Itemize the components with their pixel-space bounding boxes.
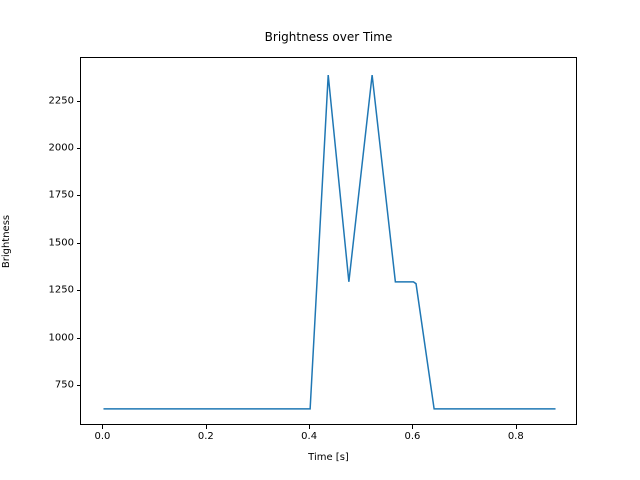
- y-tick-label: 750: [55, 380, 74, 391]
- brightness-line: [103, 75, 555, 409]
- x-tick-mark: [412, 425, 413, 429]
- x-axis-label: Time [s]: [80, 452, 577, 463]
- page-title: Brightness over Time: [80, 30, 577, 44]
- x-tick-label: 0.8: [508, 431, 524, 442]
- y-tick-label: 2250: [49, 95, 74, 106]
- y-tick-label: 1500: [49, 237, 74, 248]
- x-tick-mark: [206, 425, 207, 429]
- y-axis-label-text: Brightness: [2, 214, 13, 267]
- figure-canvas: Brightness over Time Brightness Time [s]…: [0, 0, 640, 480]
- plot-area: [81, 58, 576, 424]
- x-tick-label: 0.4: [301, 431, 317, 442]
- x-tick-mark: [102, 425, 103, 429]
- y-tick-label: 2000: [49, 143, 74, 154]
- x-tick-mark: [516, 425, 517, 429]
- x-tick-mark: [309, 425, 310, 429]
- y-tick-label: 1750: [49, 190, 74, 201]
- y-tick-label: 1000: [49, 332, 74, 343]
- x-tick-label: 0.2: [198, 431, 214, 442]
- axes-frame: [80, 57, 577, 425]
- y-tick-label: 1250: [49, 285, 74, 296]
- y-axis-label: Brightness: [0, 57, 14, 425]
- data-line-svg: [81, 58, 576, 424]
- x-tick-label: 0.0: [95, 431, 111, 442]
- x-tick-label: 0.6: [404, 431, 420, 442]
